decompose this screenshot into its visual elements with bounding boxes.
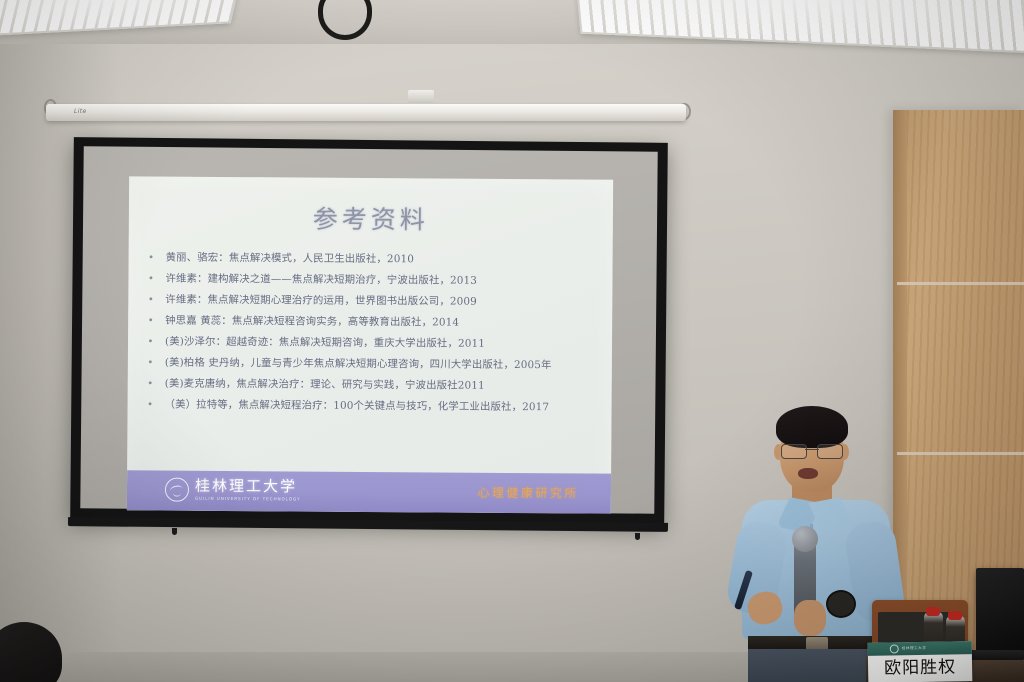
reference-text: 黄丽、骆宏：焦点解决模式，人民卫生出版社，2010 bbox=[166, 251, 415, 267]
nameplate-header-band: 桂林理工大学 bbox=[868, 641, 972, 656]
wood-panel-seam bbox=[897, 452, 1024, 455]
slide-reference-list: •黄丽、骆宏：焦点解决模式，人民卫生出版社，2010•许维素：建构解决之道——焦… bbox=[145, 250, 602, 421]
university-name-en: GUILIN UNIVERSITY OF TECHNOLOGY bbox=[195, 497, 301, 502]
microphone-head-icon bbox=[792, 526, 818, 552]
slide-title: 参考资料 bbox=[129, 198, 613, 237]
bottle-cap bbox=[926, 607, 940, 616]
classroom-photo-scene: Lite 参考资料 •黄丽、骆宏：焦点解决模式，人民卫生出版社，2010•许维素… bbox=[0, 0, 1024, 682]
bullet-icon: • bbox=[146, 355, 155, 370]
wood-panel-seam bbox=[897, 282, 1024, 285]
screen-weight-nub bbox=[172, 528, 177, 535]
glasses-icon bbox=[781, 444, 843, 458]
reference-text: (美)麦克唐纳，焦点解决治疗：理论、研究与实践，宁波出版社2011 bbox=[165, 377, 485, 394]
university-logo: 桂林理工大学 GUILIN UNIVERSITY OF TECHNOLOGY bbox=[165, 478, 301, 503]
bullet-icon: • bbox=[146, 313, 155, 328]
projector-screen-housing[interactable]: Lite bbox=[46, 104, 686, 121]
reference-item: •(美)麦克唐纳，焦点解决治疗：理论、研究与实践，宁波出版社2011 bbox=[146, 376, 602, 394]
slide-footer-band: 桂林理工大学 GUILIN UNIVERSITY OF TECHNOLOGY 心… bbox=[127, 470, 611, 513]
reference-item: •(美)沙泽尔：超越奇迹：焦点解决短期咨询，重庆大学出版社，2011 bbox=[146, 334, 602, 352]
glasses-lens-left bbox=[781, 444, 807, 459]
bullet-icon: • bbox=[146, 397, 155, 412]
presenter-hand-right bbox=[794, 600, 826, 636]
projected-slide: 参考资料 •黄丽、骆宏：焦点解决模式，人民卫生出版社，2010•许维素：建构解决… bbox=[127, 176, 613, 513]
university-emblem-icon bbox=[165, 478, 189, 502]
reference-text: (美)柏格 史丹纳，儿童与青少年焦点解决短期心理咨询，四川大学出版社，2005年 bbox=[165, 356, 552, 373]
bullet-icon: • bbox=[147, 250, 156, 265]
nameplate-subtext: 桂林理工大学 bbox=[902, 646, 927, 651]
bullet-icon: • bbox=[146, 376, 155, 391]
reference-text: 许维素：建构解决之道——焦点解决短期治疗，宁波出版社，2013 bbox=[165, 272, 477, 289]
reference-item: •黄丽、骆宏：焦点解决模式，人民卫生出版社，2010 bbox=[147, 250, 603, 268]
reference-item: •许维素：焦点解决短期心理治疗的运用，世界图书出版公司，2009 bbox=[146, 292, 602, 310]
reference-text: （美）拉特等，焦点解决短程治疗：100个关键点与技巧，化学工业出版社，2017 bbox=[165, 398, 550, 415]
bottle-cap bbox=[948, 611, 962, 620]
reference-text: 钟思嘉 黄蕊：焦点解决短程咨询实务，高等教育出版社，2014 bbox=[165, 314, 459, 331]
bullet-icon: • bbox=[146, 292, 155, 307]
screen-weight-nub bbox=[635, 533, 640, 540]
presenter-mouth bbox=[798, 468, 818, 479]
bullet-icon: • bbox=[146, 334, 155, 349]
desk-nameplate: 桂林理工大学 欧阳胜权 bbox=[868, 641, 973, 682]
reference-text: (美)沙泽尔：超越奇迹：焦点解决短期咨询，重庆大学出版社，2011 bbox=[165, 335, 485, 352]
wristwatch-icon bbox=[826, 590, 856, 618]
reference-item: •(美)柏格 史丹纳，儿童与青少年焦点解决短期心理咨询，四川大学出版社，2005… bbox=[146, 355, 602, 373]
university-name-cn: 桂林理工大学 bbox=[195, 479, 301, 495]
bullet-icon: • bbox=[146, 271, 155, 286]
keyboard bbox=[966, 650, 1024, 660]
nameplate-person-name: 欧阳胜权 bbox=[868, 655, 972, 681]
nameplate-emblem-icon bbox=[890, 644, 899, 653]
reference-item: •许维素：建构解决之道——焦点解决短期治疗，宁波出版社，2013 bbox=[146, 271, 602, 289]
reference-text: 许维素：焦点解决短期心理治疗的运用，世界图书出版公司，2009 bbox=[165, 293, 477, 310]
desk-monitor bbox=[976, 568, 1024, 654]
glasses-lens-right bbox=[817, 444, 843, 459]
department-name: 心理健康研究所 bbox=[477, 484, 579, 502]
presenter-hair bbox=[776, 406, 848, 448]
reference-item: •钟思嘉 黄蕊：焦点解决短程咨询实务，高等教育出版社，2014 bbox=[146, 313, 602, 331]
reference-item: •（美）拉特等，焦点解决短程治疗：100个关键点与技巧，化学工业出版社，2017 bbox=[146, 397, 602, 415]
screen-brand-label: Lite bbox=[74, 108, 87, 115]
screen-wall-bracket bbox=[408, 90, 434, 103]
